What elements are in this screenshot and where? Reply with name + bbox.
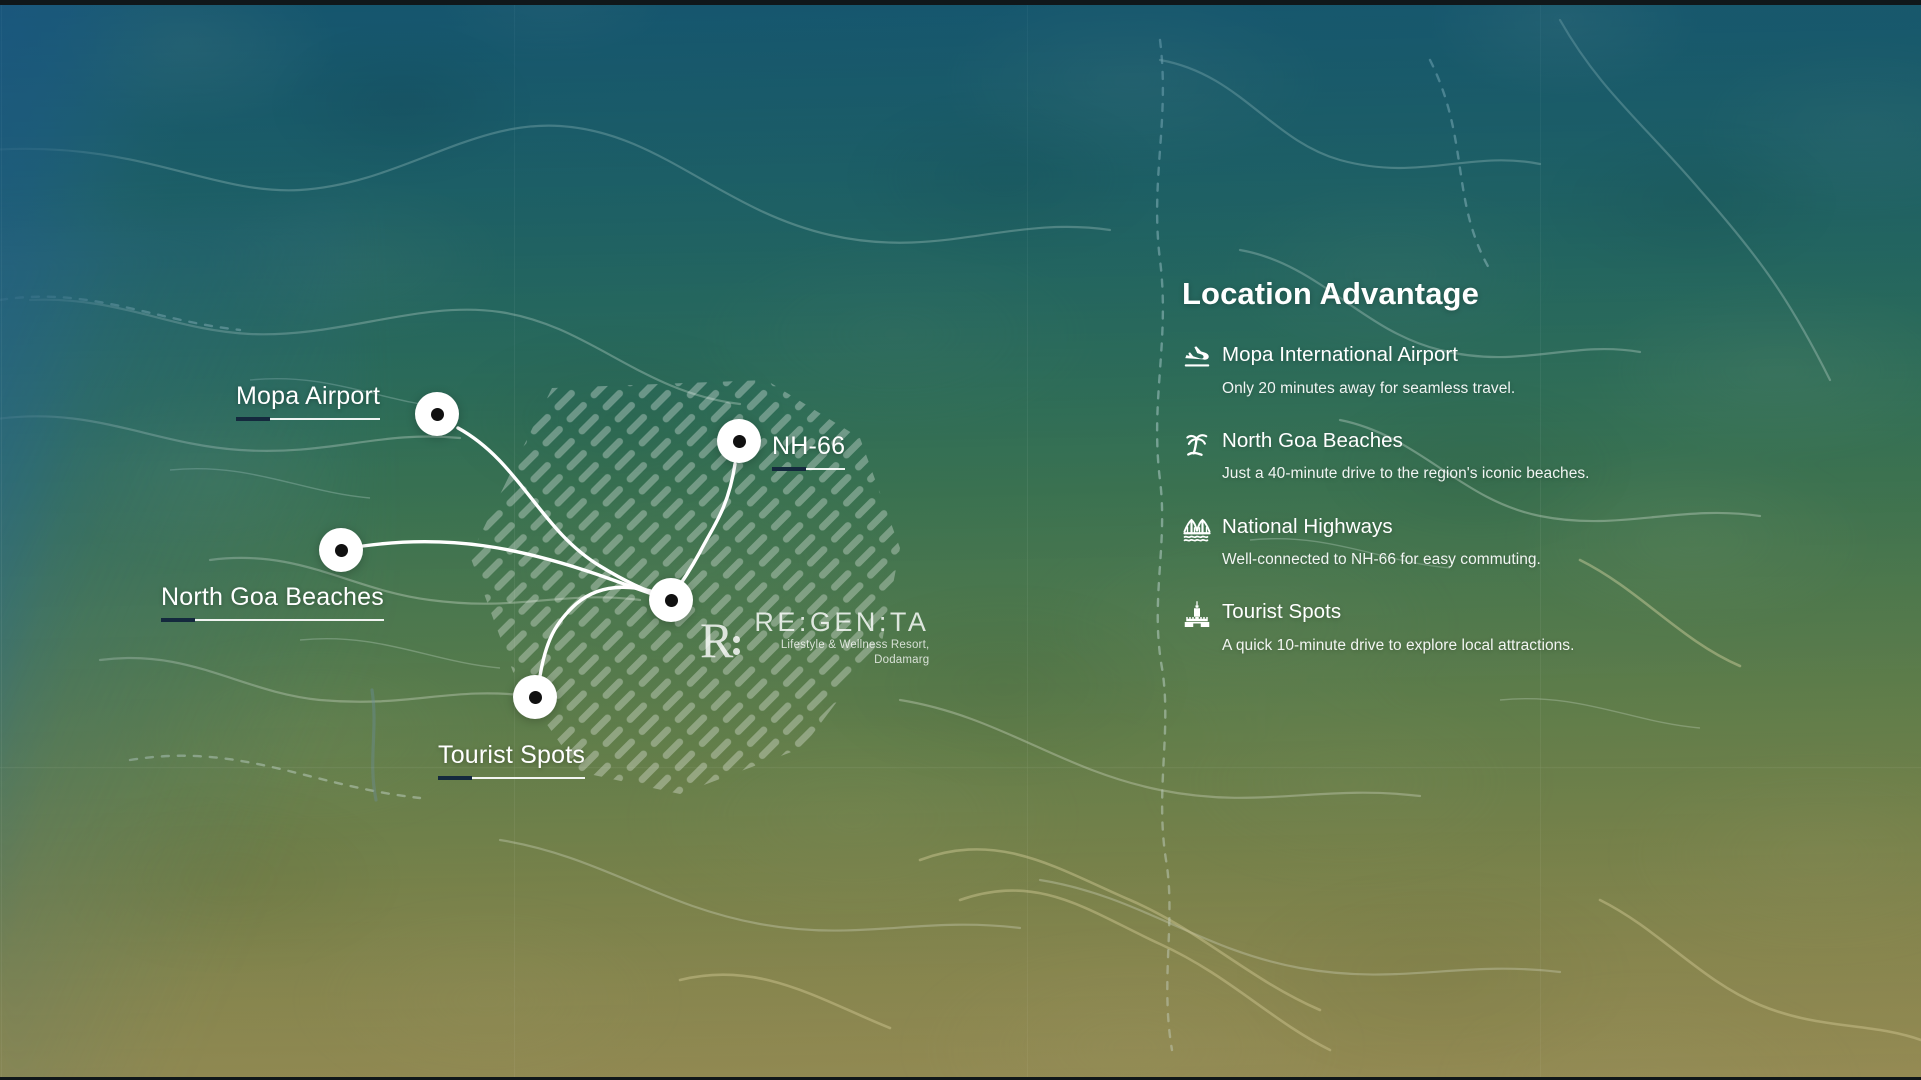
- map-label-text: NH-66: [772, 432, 845, 460]
- map-label-nh-66: NH-66: [772, 432, 845, 470]
- fort-monument-icon: [1182, 600, 1216, 634]
- map-label-text: Mopa Airport: [236, 382, 380, 410]
- logo-tagline-line2: Dodamarg: [874, 654, 929, 666]
- logo-wordmark: RE:GEN:TA: [754, 608, 929, 636]
- feature-item-mopa-airport: Mopa International Airport Only 20 minut…: [1182, 342, 1802, 399]
- label-underline: [772, 468, 845, 470]
- feature-title: National Highways: [1222, 514, 1802, 540]
- marker-dot: [529, 691, 542, 704]
- feature-item-north-goa-beaches: North Goa Beaches Just a 40-minute drive…: [1182, 428, 1802, 485]
- feature-title: Mopa International Airport: [1222, 342, 1802, 368]
- map-marker-nh-66[interactable]: [717, 419, 761, 463]
- logo-wordmark-block: RE:GEN:TA Lifestyle & Wellness Resort, D…: [754, 608, 929, 667]
- feature-body: North Goa Beaches Just a 40-minute drive…: [1222, 428, 1802, 485]
- logo-tagline-line1: Lifestyle & Wellness Resort,: [781, 639, 930, 651]
- map-marker-north-goa-beaches[interactable]: [319, 528, 363, 572]
- marker-dot: [733, 435, 746, 448]
- feature-body: Mopa International Airport Only 20 minut…: [1222, 342, 1802, 399]
- feature-item-tourist-spots: Tourist Spots A quick 10-minute drive to…: [1182, 599, 1802, 656]
- map-marker-tourist-spots[interactable]: [513, 675, 557, 719]
- marker-dot: [335, 544, 348, 557]
- marker-dot: [431, 408, 444, 421]
- map-label-text: North Goa Beaches: [161, 583, 384, 611]
- airplane-takeoff-icon: [1182, 343, 1216, 377]
- map-label-mopa-airport: Mopa Airport: [236, 382, 380, 420]
- location-advantage-slide: Mopa Airport NH-66 North Goa Beaches Tou…: [0, 0, 1921, 1080]
- feature-item-national-highways: National Highways Well-connected to NH-6…: [1182, 514, 1802, 571]
- panel-heading: Location Advantage: [1182, 276, 1802, 312]
- suspension-bridge-icon: [1182, 515, 1216, 549]
- letterbox-bar-top: [0, 0, 1921, 5]
- map-marker-mopa-airport[interactable]: [415, 392, 459, 436]
- map-label-tourist-spots: Tourist Spots: [438, 741, 585, 779]
- logo-colon-dots-icon: [733, 631, 740, 660]
- feature-body: Tourist Spots A quick 10-minute drive to…: [1222, 599, 1802, 656]
- palm-tree-icon: [1182, 429, 1216, 463]
- label-underline: [161, 619, 384, 621]
- feature-description: Just a 40-minute drive to the region's i…: [1222, 464, 1802, 484]
- label-underline: [236, 418, 380, 420]
- logo-monogram-icon: R: [700, 615, 740, 665]
- marker-dot: [665, 594, 678, 607]
- label-underline: [438, 777, 585, 779]
- map-label-north-goa-beaches: North Goa Beaches: [161, 583, 384, 621]
- resort-logo: R RE:GEN:TA Lifestyle & Wellness Resort,…: [700, 608, 929, 667]
- location-advantage-panel: Location Advantage Mopa International Ai…: [1182, 276, 1802, 656]
- map-marker-resort[interactable]: [649, 578, 693, 622]
- feature-description: A quick 10-minute drive to explore local…: [1222, 636, 1802, 656]
- logo-monogram-letter: R: [700, 612, 731, 668]
- map-label-text: Tourist Spots: [438, 741, 585, 769]
- feature-title: Tourist Spots: [1222, 599, 1802, 625]
- feature-body: National Highways Well-connected to NH-6…: [1222, 514, 1802, 571]
- feature-title: North Goa Beaches: [1222, 428, 1802, 454]
- logo-tagline: Lifestyle & Wellness Resort, Dodamarg: [754, 638, 929, 667]
- feature-description: Only 20 minutes away for seamless travel…: [1222, 379, 1802, 399]
- feature-description: Well-connected to NH-66 for easy commuti…: [1222, 550, 1802, 570]
